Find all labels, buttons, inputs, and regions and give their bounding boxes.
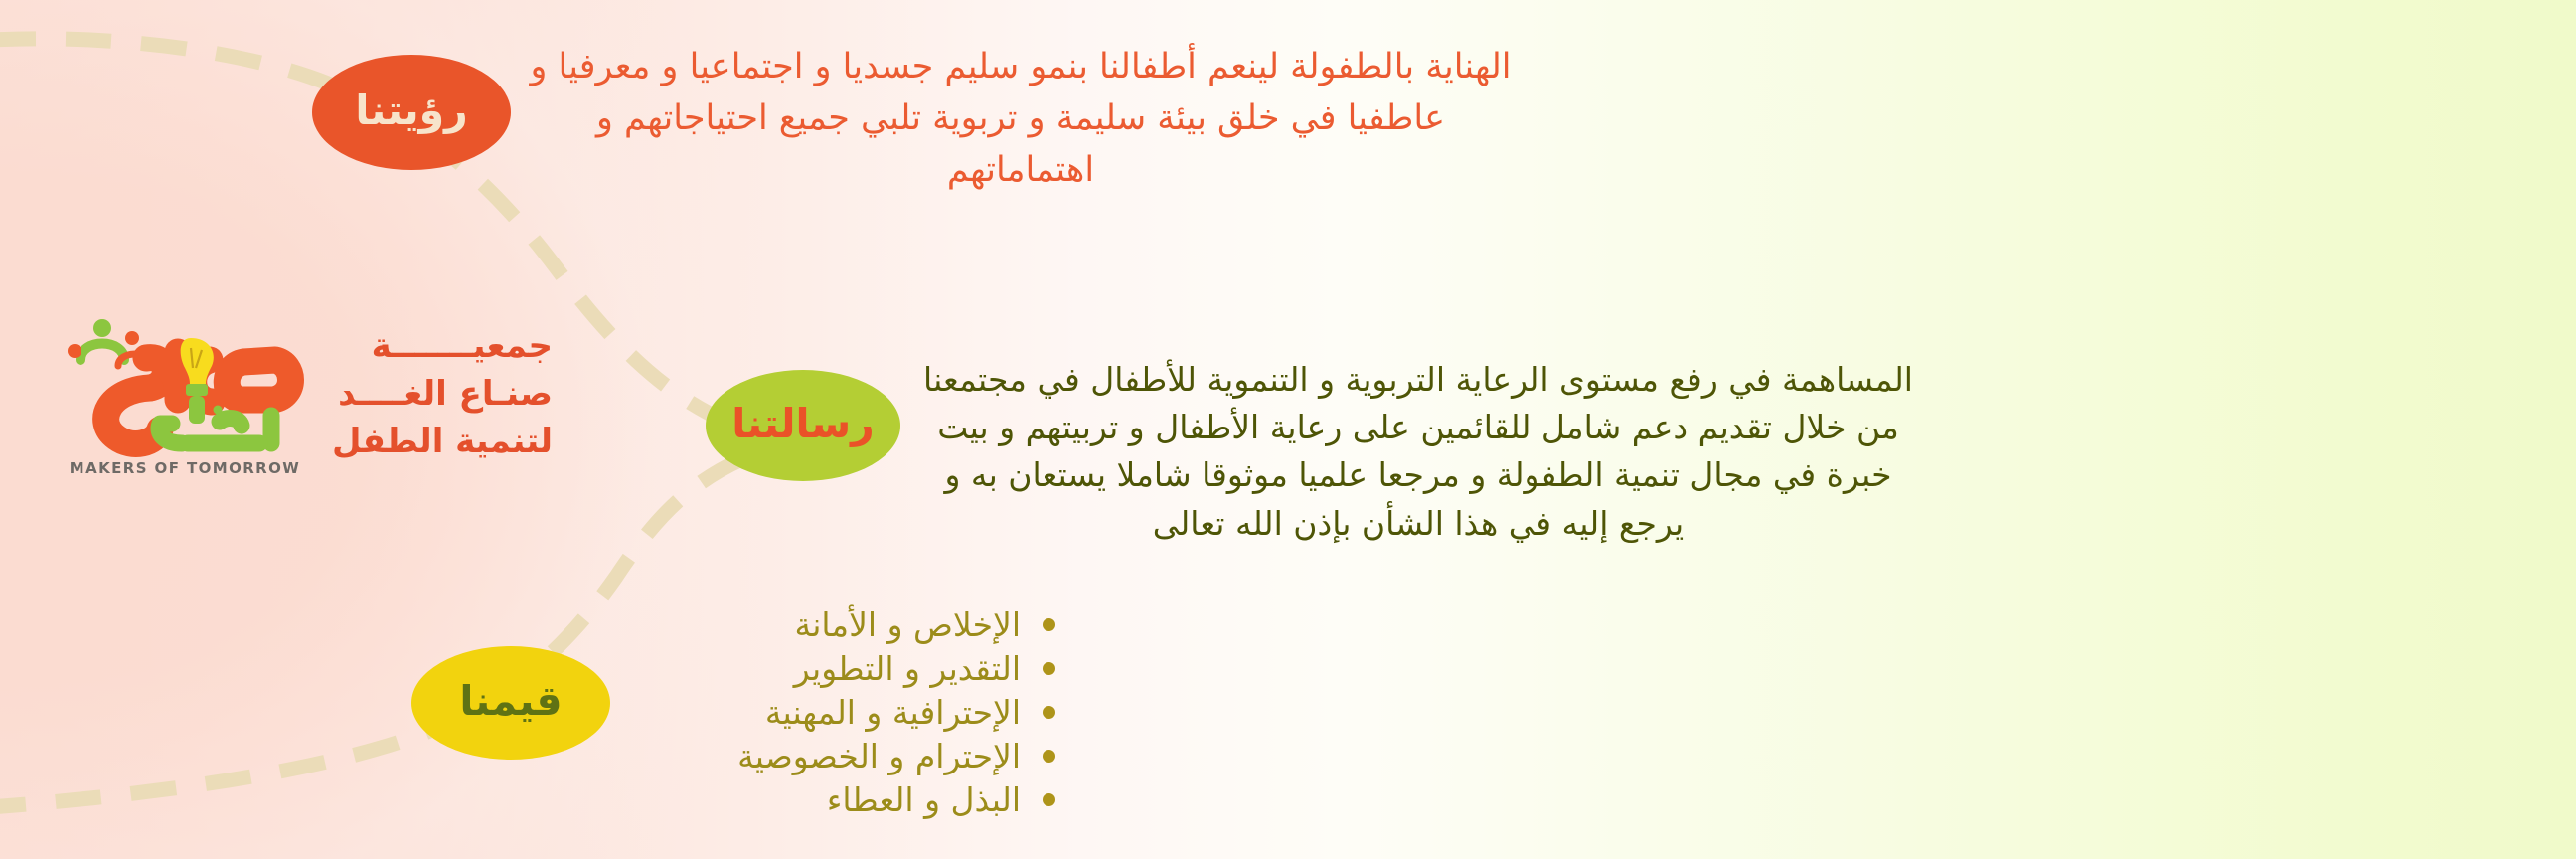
list-item: الإحترام و الخصوصية [638, 740, 1055, 783]
infographic-canvas: رؤيتنا الهناية بالطفولة لينعم أطفالنا بن… [0, 0, 2576, 859]
vision-paragraph: الهناية بالطفولة لينعم أطفالنا بنمو سليم… [519, 42, 1523, 196]
list-item: التقدير و التطوير [638, 652, 1055, 696]
list-item: الإحترافية و المهنية [638, 696, 1055, 740]
mission-node-label: رسالتنا [731, 404, 875, 444]
vision-node[interactable]: رؤيتنا [312, 55, 511, 170]
value-label: الإحترام و الخصوصية [638, 740, 1021, 773]
vision-node-label: رؤيتنا [355, 90, 467, 131]
list-item: الإخلاص و الأمانة [638, 608, 1055, 652]
values-node-label: قيمنا [459, 681, 562, 722]
bullet-icon [1043, 793, 1055, 806]
organization-name-line: صنـاع الغــــد [309, 370, 553, 418]
brand-block: جمعيـــــــة صنـاع الغــــد لتنمية الطفل [30, 294, 557, 493]
value-label: التقدير و التطوير [638, 652, 1021, 685]
value-label: الإحترافية و المهنية [638, 696, 1021, 729]
organization-name: جمعيـــــــة صنـاع الغــــد لتنمية الطفل [309, 322, 557, 466]
bullet-icon [1043, 706, 1055, 719]
list-item: البذل و العطاء [638, 783, 1055, 827]
values-list: الإخلاص و الأمانة التقدير و التطوير الإح… [638, 608, 1055, 827]
values-node[interactable]: قيمنا [411, 646, 610, 760]
bullet-icon [1043, 662, 1055, 675]
organization-logo: MAKERS OF TOMORROW [61, 304, 309, 483]
value-label: البذل و العطاء [638, 783, 1021, 816]
logo-tagline: MAKERS OF TOMORROW [61, 459, 309, 477]
bullet-icon [1043, 618, 1055, 631]
mission-paragraph: المساهمة في رفع مستوى الرعاية التربوية و… [916, 356, 1920, 548]
organization-name-line: لتنمية الطفل [309, 418, 553, 465]
bullet-icon [1043, 750, 1055, 763]
mission-node[interactable]: رسالتنا [706, 370, 900, 481]
value-label: الإخلاص و الأمانة [638, 608, 1021, 641]
organization-name-line: جمعيـــــــة [309, 322, 553, 370]
